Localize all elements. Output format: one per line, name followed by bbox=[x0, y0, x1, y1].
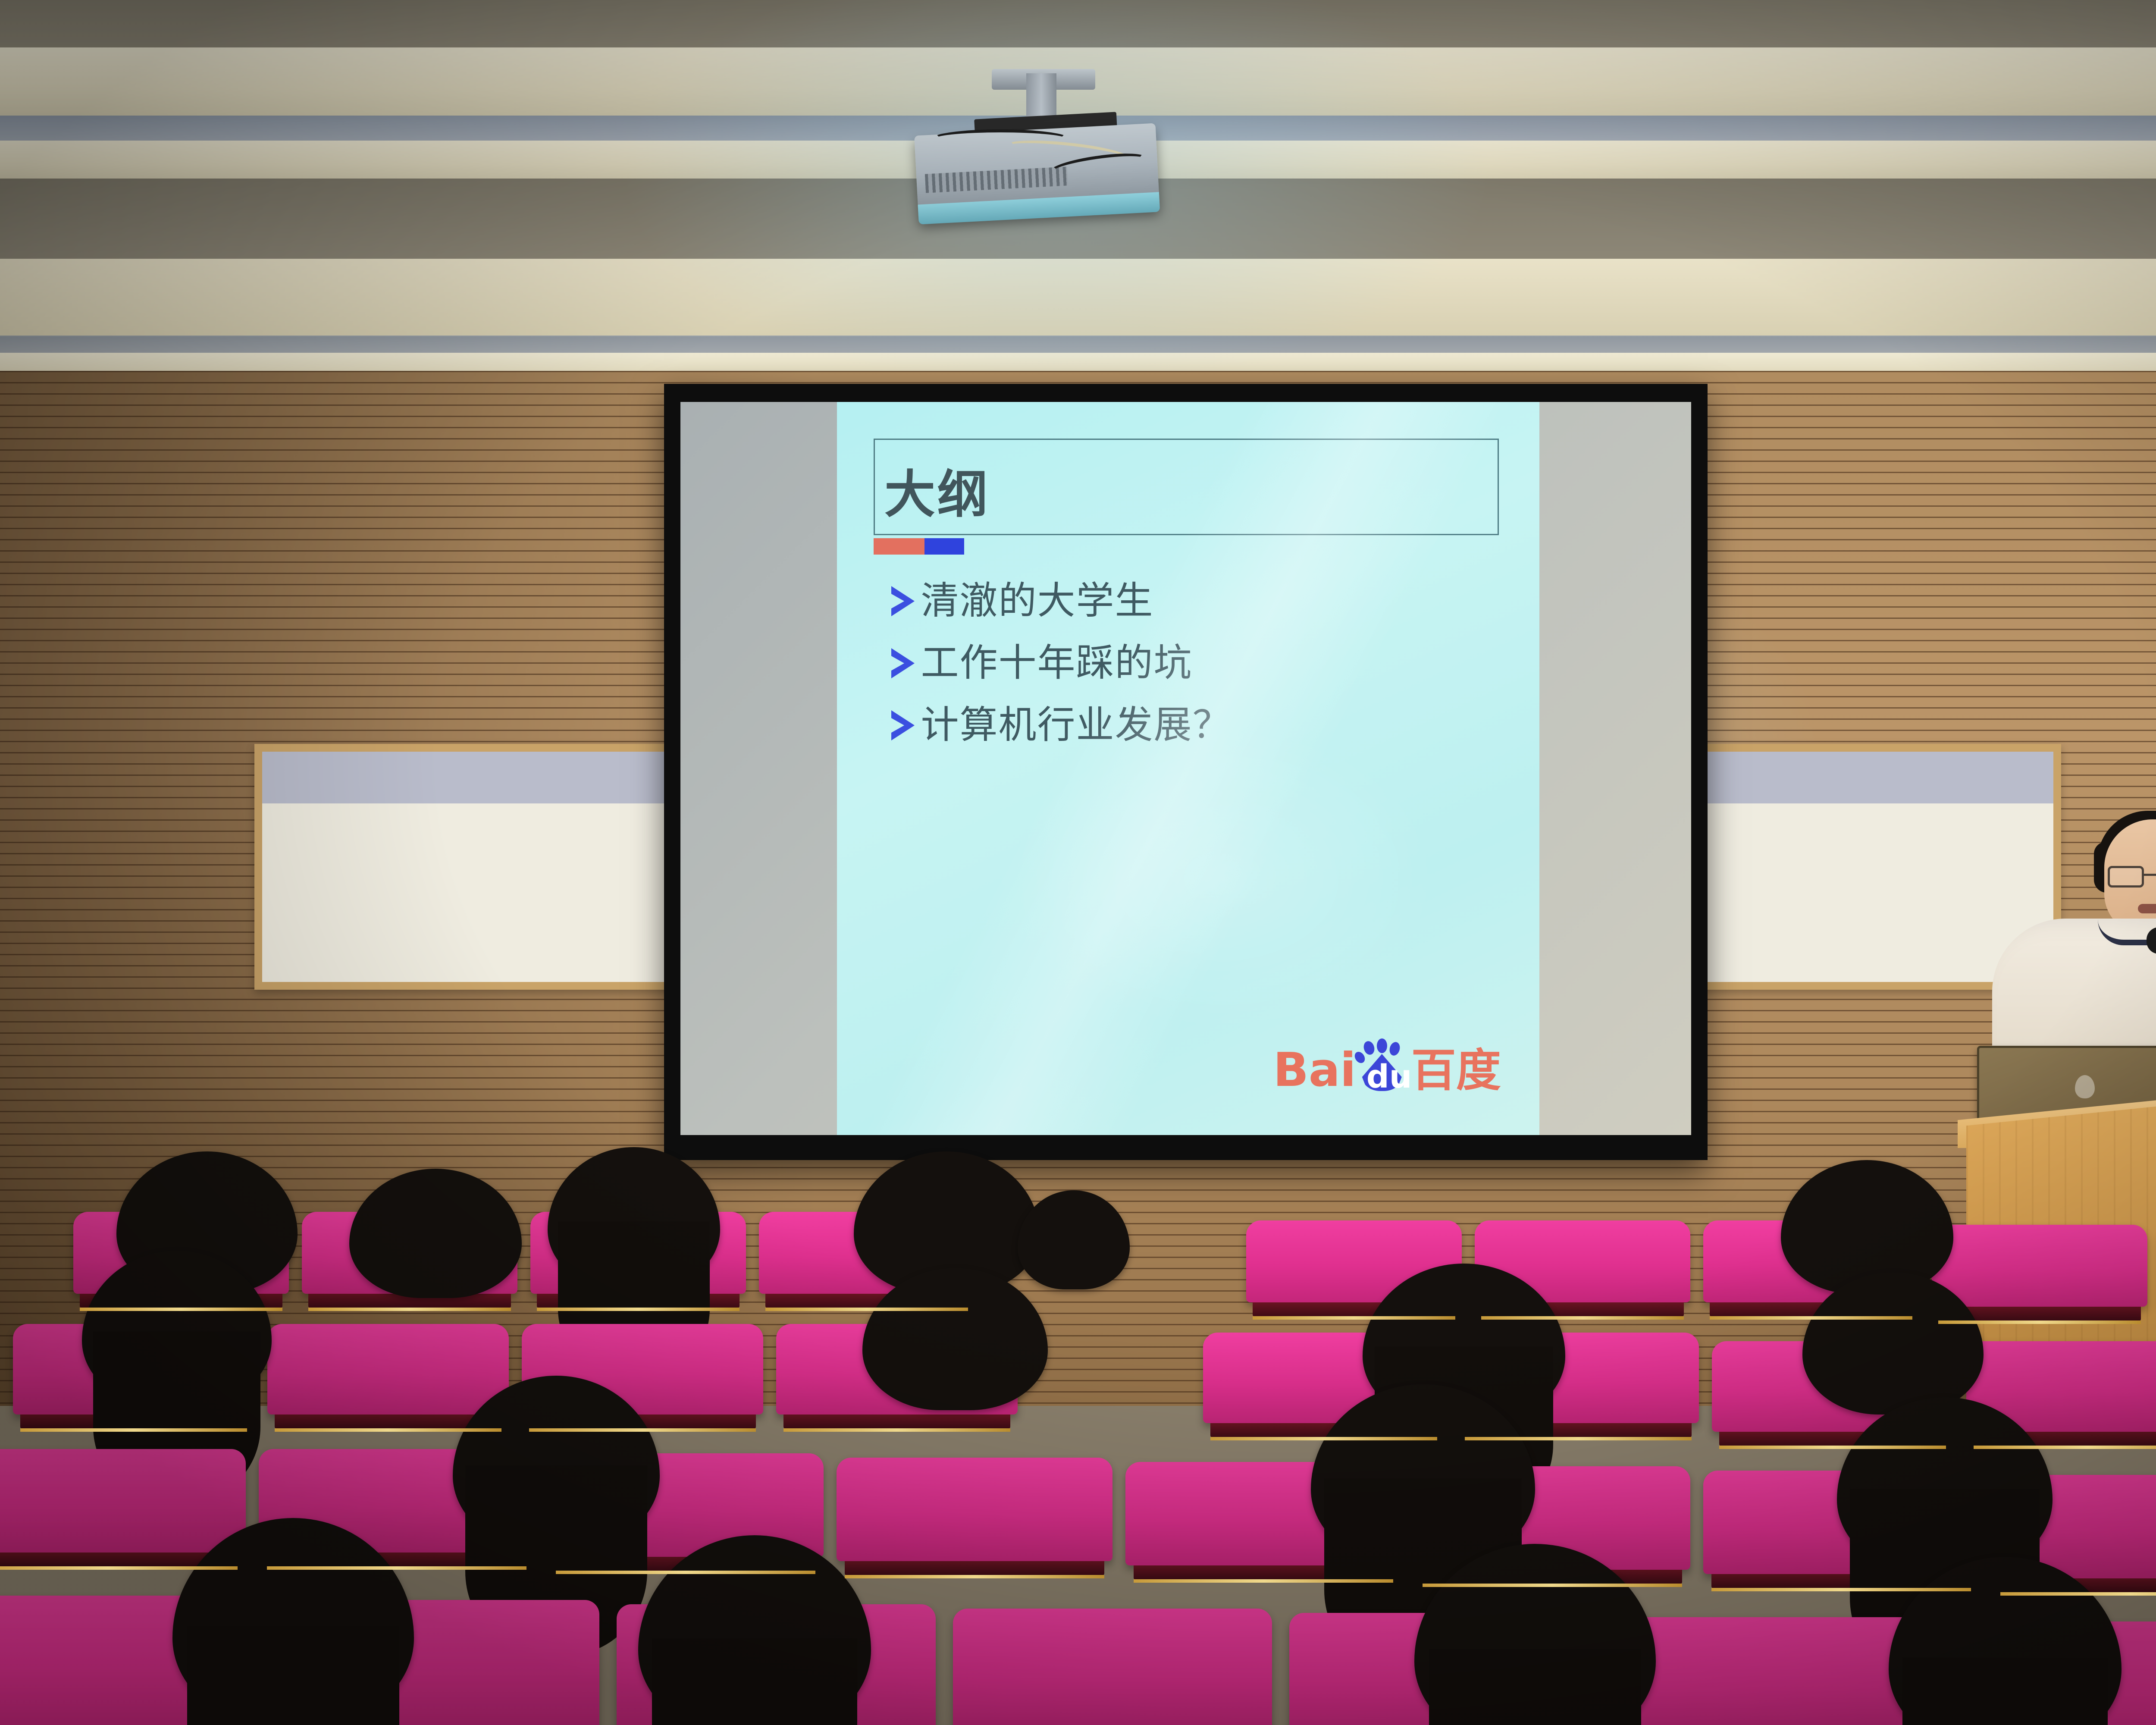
projector-cable-3 bbox=[1048, 149, 1164, 291]
slide-bullet-text: 工作十年踩的坑 bbox=[921, 644, 1192, 682]
auditorium-seat[interactable] bbox=[267, 1324, 509, 1414]
baidu-logo-du: du bbox=[1366, 1062, 1412, 1092]
auditorium-seat[interactable] bbox=[0, 1449, 246, 1552]
accent-segment-red bbox=[874, 538, 924, 554]
auditorium-seat[interactable] bbox=[1932, 1225, 2147, 1307]
screen-surface: 大纲 清澈的大学生 bbox=[680, 402, 1691, 1135]
baidu-paw-icon: du bbox=[1356, 1039, 1408, 1091]
baidu-logo-bai: Bai bbox=[1273, 1049, 1356, 1091]
apple-logo-icon bbox=[2075, 1075, 2095, 1098]
auditorium-seat[interactable] bbox=[837, 1458, 1112, 1561]
lecture-hall-scene: 计算机学院 COLLEGE OF ENGINEERING 大纲 bbox=[0, 0, 2156, 1725]
arrow-bullet-icon bbox=[890, 709, 916, 742]
arrow-bullet-icon bbox=[890, 646, 916, 680]
auditorium-seat[interactable] bbox=[953, 1609, 1272, 1725]
slide-accent-bar bbox=[874, 538, 964, 554]
slide-bullet-list: 清澈的大学生 工作十年踩的坑 计算机行业发展？ bbox=[890, 582, 1494, 768]
slide-title: 大纲 bbox=[884, 453, 990, 527]
slide-bullet-item: 清澈的大学生 bbox=[890, 582, 1494, 620]
slide-bullet-item: 计算机行业发展？ bbox=[890, 706, 1494, 744]
presentation-slide: 大纲 清澈的大学生 bbox=[837, 402, 1539, 1135]
baidu-logo-chinese: 百度 bbox=[1411, 1051, 1501, 1091]
audience-seating bbox=[0, 1276, 2156, 1725]
slide-title-box: 大纲 bbox=[874, 439, 1499, 535]
baidu-logo: Bai du 百度 bbox=[1273, 1035, 1501, 1091]
presenter-mouth bbox=[2138, 904, 2156, 913]
arrow-bullet-icon bbox=[890, 584, 916, 618]
slide-bullet-item: 工作十年踩的坑 bbox=[890, 644, 1494, 682]
projection-screen: 大纲 清澈的大学生 bbox=[664, 384, 1708, 1160]
slide-bullet-text: 清澈的大学生 bbox=[921, 582, 1153, 620]
slide-bullet-text: 计算机行业发展？ bbox=[921, 706, 1231, 744]
glasses-icon bbox=[2108, 866, 2156, 888]
accent-segment-blue bbox=[924, 538, 964, 554]
